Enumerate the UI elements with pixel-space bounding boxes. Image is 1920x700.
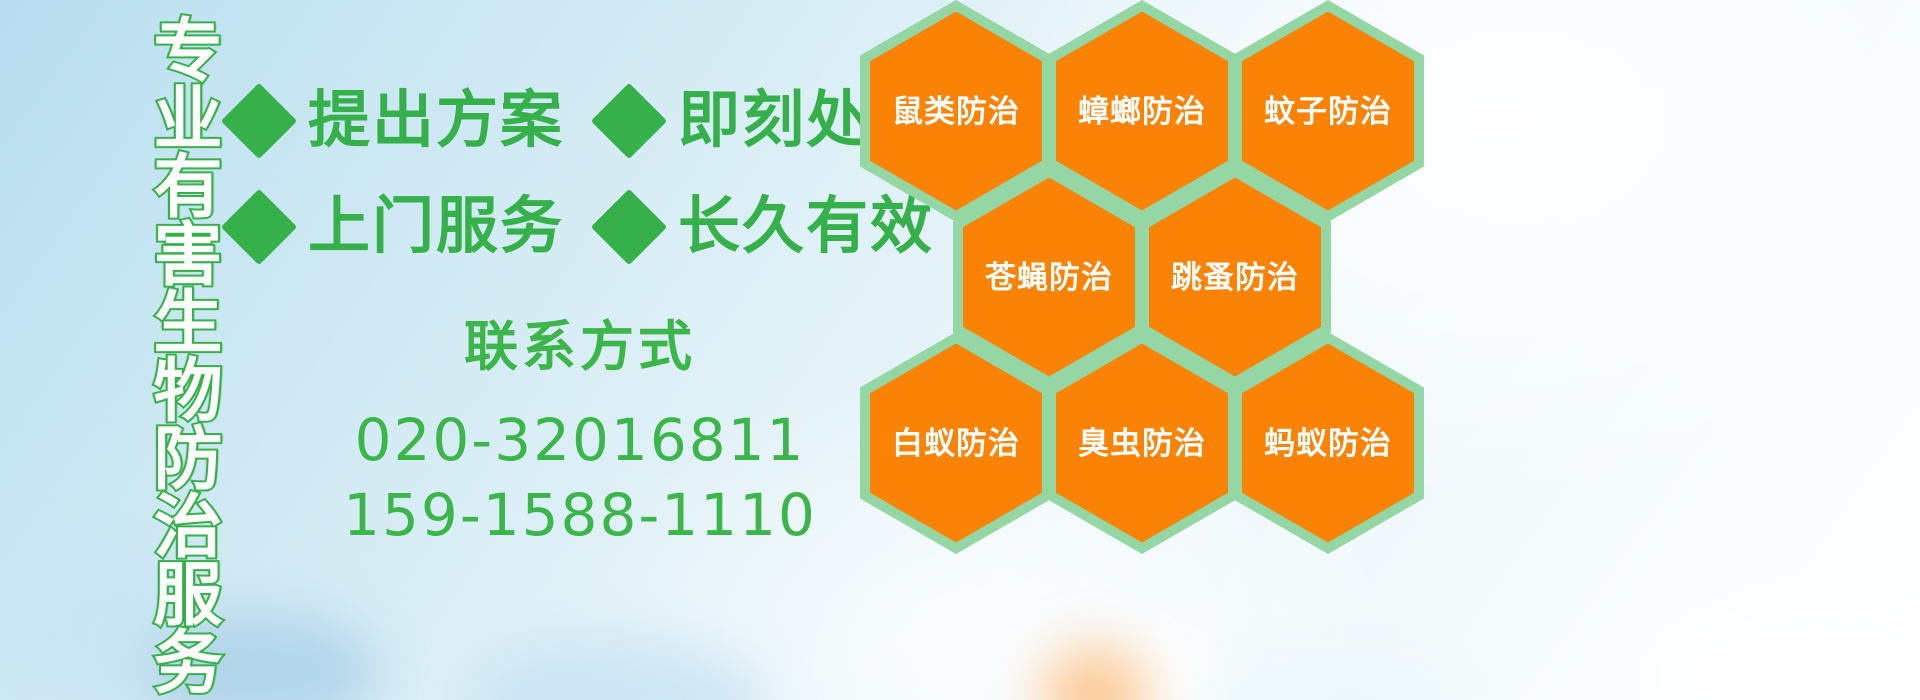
hex-inner: 臭虫防治 bbox=[1056, 344, 1228, 543]
hex-label: 苍蝇防治 bbox=[985, 262, 1113, 293]
feature-item-propose-plan: 提出方案 bbox=[232, 90, 564, 152]
feature-row-1: 提出方案 即刻处理 bbox=[232, 90, 934, 152]
feature-row-2: 上门服务 长久有效 bbox=[232, 196, 934, 258]
hex-inner: 鼠类防治 bbox=[870, 12, 1042, 211]
diamond-icon bbox=[591, 189, 667, 265]
hex-label: 白蚁防治 bbox=[892, 428, 1020, 459]
hex-label: 蚂蚁防治 bbox=[1264, 428, 1392, 459]
phone-number-mobile[interactable]: 159-1588-1110 bbox=[300, 478, 860, 552]
feature-label: 提出方案 bbox=[308, 90, 564, 152]
hex-label: 蚊子防治 bbox=[1264, 96, 1392, 127]
hex-inner: 蟑螂防治 bbox=[1056, 12, 1228, 211]
contact-block: 联系方式 020-32016811 159-1588-1110 bbox=[300, 318, 860, 552]
hex-inner: 苍蝇防治 bbox=[963, 178, 1135, 377]
background-bokeh-blob bbox=[1020, 626, 1220, 700]
hex-label: 蟑螂防治 bbox=[1078, 96, 1206, 127]
hex-label: 鼠类防治 bbox=[892, 96, 1020, 127]
background-bokeh-blob-orange bbox=[1040, 646, 1150, 700]
feature-item-door-to-door-service: 上门服务 bbox=[232, 196, 564, 258]
background-bokeh-blob bbox=[1200, 660, 1460, 700]
pest-control-banner: 专业有害生物防治服务 提出方案 即刻处理 上门服务 长久有效 联系方式 020-… bbox=[0, 0, 1920, 700]
hex-label: 跳蚤防治 bbox=[1171, 262, 1299, 293]
contact-title: 联系方式 bbox=[300, 318, 860, 377]
service-honeycomb: 鼠类防治 蟑螂防治 蚊子防治 苍蝇防治 跳蚤防治 白蚁防治 bbox=[856, 0, 1456, 546]
diamond-icon bbox=[221, 189, 297, 265]
hex-inner: 蚊子防治 bbox=[1242, 12, 1414, 211]
diamond-icon bbox=[591, 83, 667, 159]
hex-inner: 跳蚤防治 bbox=[1149, 178, 1321, 377]
hex-inner: 蚂蚁防治 bbox=[1242, 344, 1414, 543]
feature-label: 上门服务 bbox=[308, 196, 564, 258]
hex-label: 臭虫防治 bbox=[1078, 428, 1206, 459]
background-bokeh-blob bbox=[1640, 600, 1920, 700]
vertical-headline: 专业有害生物防治服务 bbox=[108, 14, 216, 574]
background-bokeh-blob bbox=[470, 640, 770, 700]
hex-inner: 白蚁防治 bbox=[870, 344, 1042, 543]
diamond-icon bbox=[221, 83, 297, 159]
phone-number-landline[interactable]: 020-32016811 bbox=[300, 403, 860, 477]
